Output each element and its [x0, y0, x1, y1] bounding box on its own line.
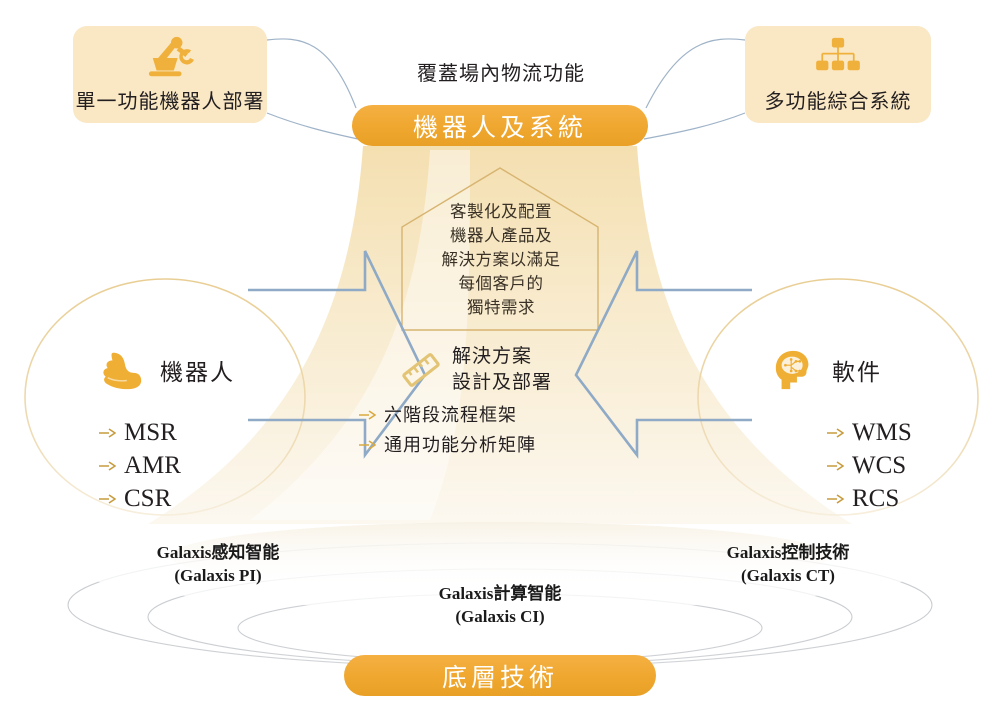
ribbon-left-top	[267, 39, 356, 108]
list-item: WCS	[826, 449, 912, 482]
software-header: 軟件	[772, 347, 882, 393]
robot-arm-icon	[138, 35, 202, 81]
arrow-bullet-icon	[98, 460, 116, 472]
solution-title-line-2: 設計及部署	[452, 370, 552, 396]
galaxis-ci-label: Galaxis計算智能 (Galaxis CI)	[400, 582, 600, 628]
list-item: CSR	[98, 482, 181, 515]
top-right-box[interactable]: 多功能綜合系統	[745, 26, 931, 123]
robots-title: 機器人	[160, 353, 235, 387]
arrow-bullet-icon	[826, 460, 844, 472]
solution-header: 解決方案 設計及部署	[398, 344, 608, 396]
software-title: 軟件	[832, 353, 882, 387]
galaxis-ct-line-2: (Galaxis CT)	[688, 564, 888, 587]
robots-bullet-list: MSR AMR CSR	[98, 416, 181, 515]
foundation-technology-pill[interactable]: 底層技術	[344, 655, 656, 696]
galaxis-ci-line-1: Galaxis計算智能	[400, 582, 600, 605]
house-line-4: 每個客戶的	[425, 272, 577, 296]
list-item: 通用功能分析矩陣	[358, 430, 588, 460]
software-bullet-list: WMS WCS RCS	[826, 416, 912, 515]
list-item-label: CSR	[124, 482, 171, 515]
galaxis-ct-line-1: Galaxis控制技術	[688, 541, 888, 564]
galaxis-pi-label: Galaxis感知智能 (Galaxis PI)	[118, 541, 318, 587]
galaxis-pi-line-1: Galaxis感知智能	[118, 541, 318, 564]
solution-title-line-1: 解決方案	[452, 344, 552, 370]
diagram-canvas: 單一功能機器人部署 多功能綜合系統 覆蓋場內物流功能 機器人及系統 客製化及配置…	[0, 0, 1000, 704]
list-item-label: 六階段流程框架	[384, 400, 517, 430]
solution-title: 解決方案 設計及部署	[452, 344, 552, 396]
top-left-box-label: 單一功能機器人部署	[76, 85, 265, 114]
list-item-label: RCS	[852, 482, 899, 515]
list-item-label: WCS	[852, 449, 906, 482]
galaxis-ci-line-2: (Galaxis CI)	[400, 605, 600, 628]
brain-head-icon	[772, 347, 818, 393]
house-line-3: 解決方案以滿足	[425, 248, 577, 272]
list-item-label: WMS	[852, 416, 912, 449]
list-item: WMS	[826, 416, 912, 449]
house-line-5: 獨特需求	[425, 296, 577, 320]
top-right-box-label: 多功能綜合系統	[765, 85, 912, 114]
ribbon-left-bottom	[267, 113, 358, 139]
ribbon-right-top	[646, 39, 745, 108]
house-line-1: 客製化及配置	[425, 200, 577, 224]
top-left-box[interactable]: 單一功能機器人部署	[73, 26, 267, 123]
arrow-bullet-icon	[358, 409, 376, 421]
list-item: AMR	[98, 449, 181, 482]
list-item-label: MSR	[124, 416, 177, 449]
solution-bullet-list: 六階段流程框架 通用功能分析矩陣	[358, 400, 588, 460]
list-item: 六階段流程框架	[358, 400, 588, 430]
list-item: MSR	[98, 416, 181, 449]
house-line-2: 機器人產品及	[425, 224, 577, 248]
org-tree-icon	[810, 35, 866, 81]
arrow-bullet-icon	[826, 427, 844, 439]
robots-header: 機器人	[100, 347, 235, 393]
list-item-label: AMR	[124, 449, 181, 482]
arrow-bullet-icon	[358, 439, 376, 451]
galaxis-pi-line-2: (Galaxis PI)	[118, 564, 318, 587]
house-description: 客製化及配置 機器人產品及 解決方案以滿足 每個客戶的 獨特需求	[425, 200, 577, 320]
arrow-bullet-icon	[826, 493, 844, 505]
arrow-bullet-icon	[98, 427, 116, 439]
top-caption: 覆蓋場內物流功能	[417, 57, 585, 86]
list-item: RCS	[826, 482, 912, 515]
ruler-icon	[398, 347, 444, 393]
galaxis-ct-label: Galaxis控制技術 (Galaxis CT)	[688, 541, 888, 587]
list-item-label: 通用功能分析矩陣	[384, 430, 536, 460]
ribbon-right-bottom	[644, 113, 745, 139]
arrow-bullet-icon	[98, 493, 116, 505]
muscle-arm-icon	[100, 347, 146, 393]
robots-and-systems-pill[interactable]: 機器人及系統	[352, 105, 648, 146]
